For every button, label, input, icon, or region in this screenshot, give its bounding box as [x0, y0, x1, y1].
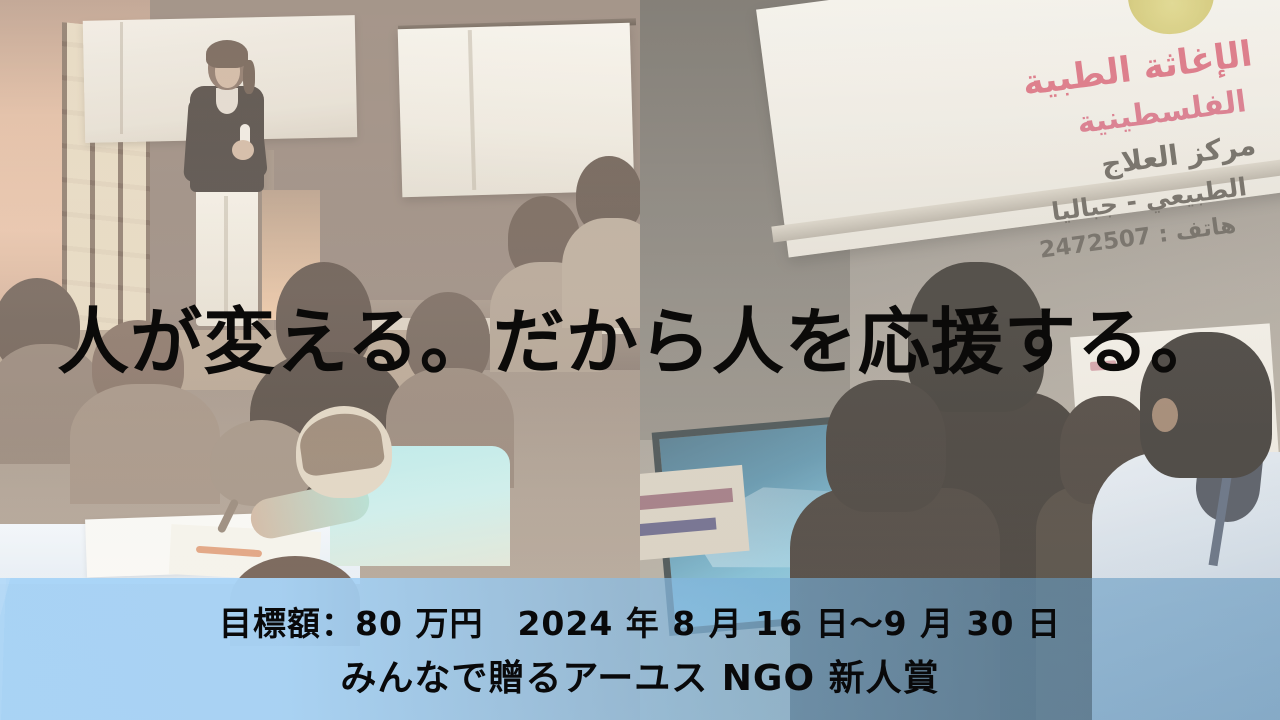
presenter-collar	[216, 88, 238, 114]
campaign-goal-and-period: 目標額：80 万円 2024 年 8 月 16 日〜9 月 30 日	[219, 597, 1061, 645]
wall-poster-small	[640, 465, 750, 561]
band-text-stack: 目標額：80 万円 2024 年 8 月 16 日〜9 月 30 日 みんなで贈…	[0, 578, 1280, 720]
person-head	[826, 380, 946, 512]
poster-headline: 人が変える。だから人を応援する。	[0, 306, 1280, 378]
participant-body	[70, 384, 220, 504]
presenter-hand	[232, 140, 254, 160]
person-ear	[1152, 398, 1178, 432]
presenter-ponytail	[243, 60, 255, 94]
campaign-poster: الإغاثة الطبية الفلسطينية مركز العلاج ال…	[0, 0, 1280, 720]
presenter-hair	[206, 40, 248, 68]
campaign-title: みんなで贈るアーユス NGO 新人賞	[340, 649, 939, 701]
bottom-info-band: 目標額：80 万円 2024 年 8 月 16 日〜9 月 30 日 みんなで贈…	[0, 578, 1280, 720]
whiteboard-fold	[120, 22, 123, 134]
